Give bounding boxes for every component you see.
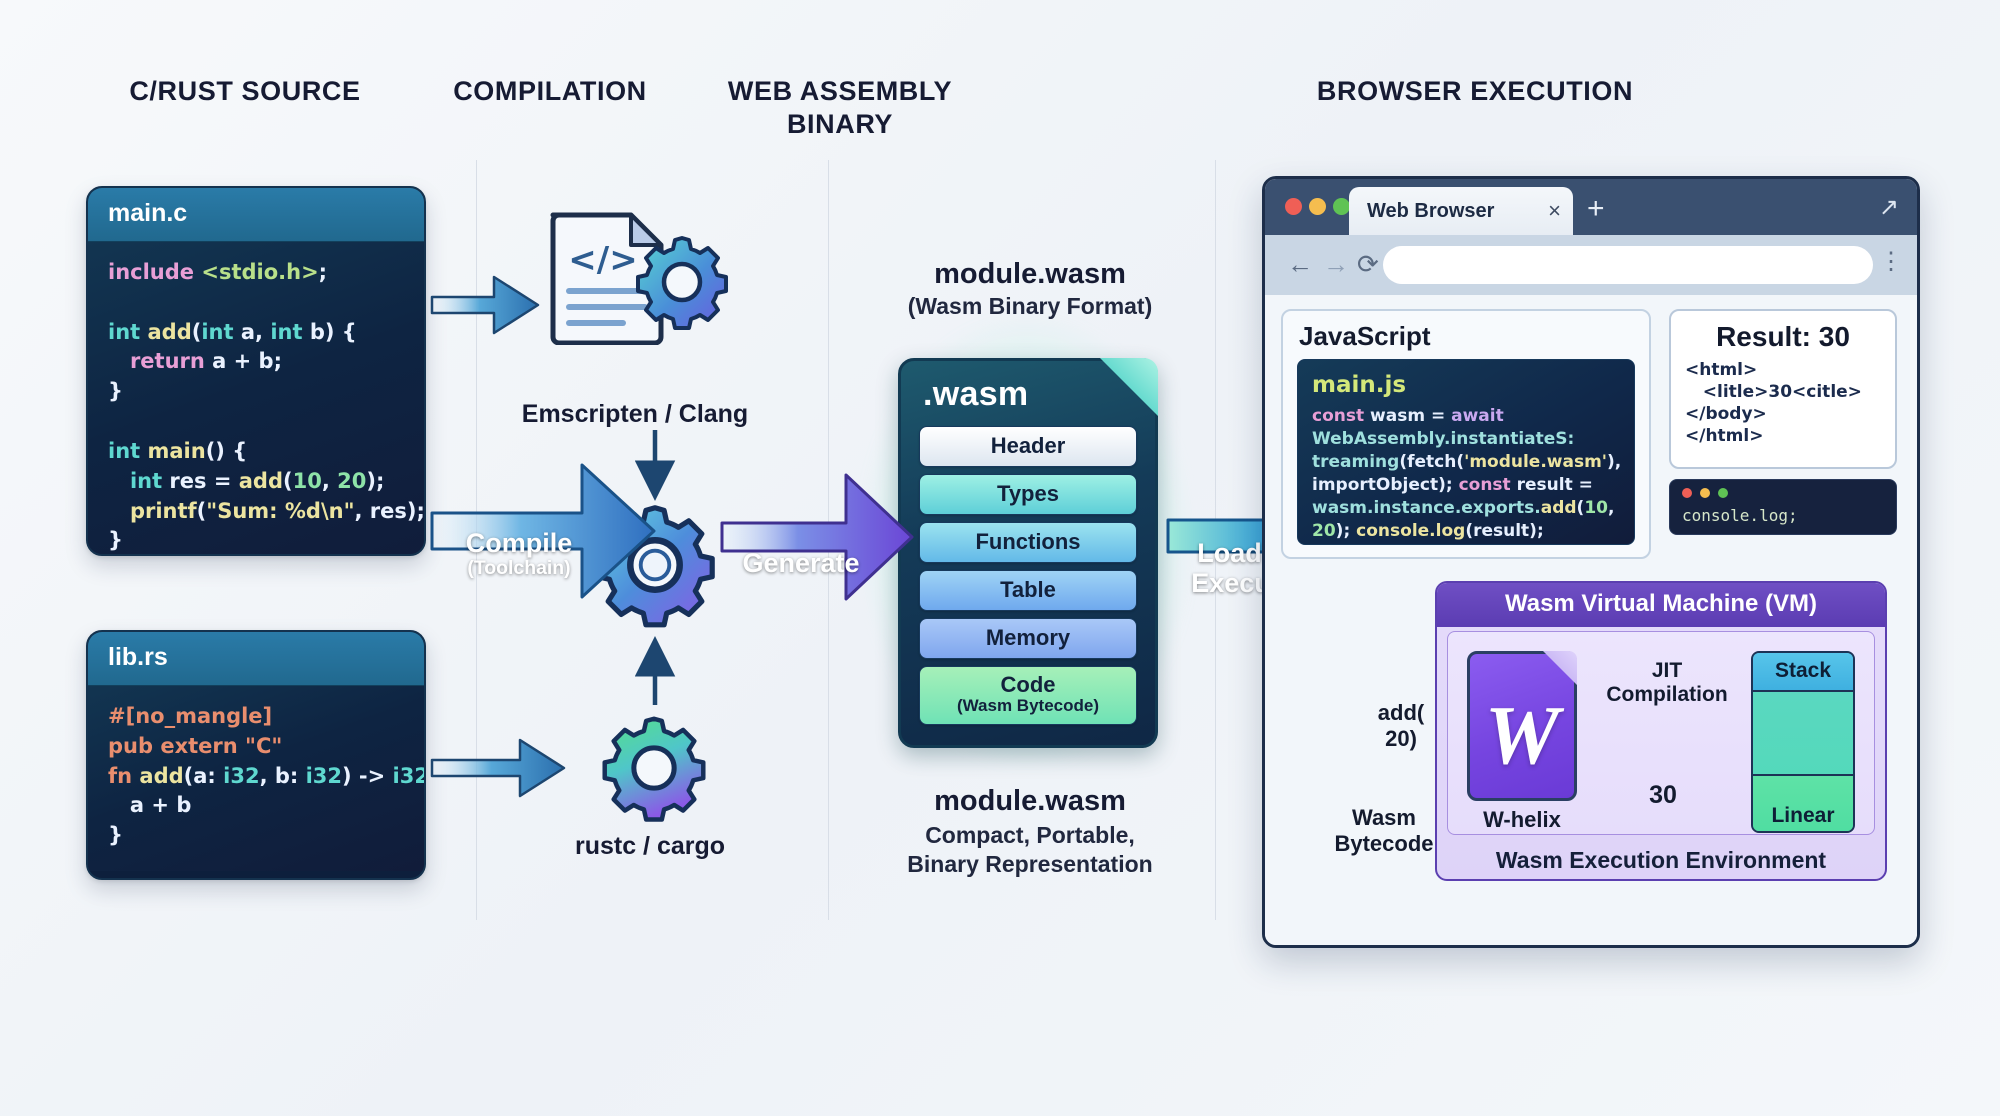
- vm-memory-stack: Stack: [1753, 653, 1853, 692]
- wasm-segment-types: Types: [919, 474, 1137, 515]
- column-title-compilation: COMPILATION: [405, 75, 695, 108]
- wasm-execution-environment-label: Wasm Execution Environment: [1437, 847, 1885, 874]
- console-output-text: console.log;: [1682, 506, 1798, 525]
- wasm-caption-top-title: module.wasm: [860, 258, 1200, 291]
- whelix-label: W-helix: [1459, 807, 1585, 833]
- wasm-segment-header: Header: [919, 426, 1137, 467]
- reload-button[interactable]: ⟳: [1357, 249, 1379, 280]
- main-js-code: main.js const wasm = await WebAssembly.i…: [1297, 359, 1635, 545]
- label-emscripten: Emscripten / Clang: [470, 400, 800, 429]
- result-html-code: <html> <litle>30<citle> </body> </html>: [1685, 359, 1881, 447]
- wasm-caption-bottom-subtitle: Compact, Portable, Binary Representation: [860, 821, 1200, 879]
- javascript-panel: JavaScript main.js const wasm = await We…: [1281, 309, 1651, 559]
- back-button[interactable]: ←: [1287, 249, 1313, 280]
- edge-label-wasm-bytecode: Wasm Bytecode: [1319, 805, 1449, 856]
- wasm-segment-code-sub: (Wasm Bytecode): [920, 696, 1136, 716]
- traffic-light-minimize-icon[interactable]: [1309, 198, 1326, 215]
- browser-menu-button[interactable]: ⋮: [1879, 247, 1903, 276]
- gear-icon-toolchain: [590, 500, 720, 630]
- wasm-file-box: .wasm Header Types Functions Table Memor…: [898, 358, 1158, 748]
- traffic-light-close-icon[interactable]: [1285, 198, 1302, 215]
- forward-button[interactable]: →: [1323, 249, 1349, 280]
- javascript-panel-title: JavaScript: [1283, 311, 1649, 352]
- wasm-segment-table: Table: [919, 570, 1137, 611]
- wasm-caption-top-subtitle: (Wasm Binary Format): [860, 293, 1200, 320]
- wasm-caption-bottom-title: module.wasm: [860, 785, 1200, 818]
- new-tab-button[interactable]: +: [1587, 192, 1605, 226]
- code-card-title-lib-rs: lib.rs: [88, 632, 424, 686]
- browser-tab-label: Web Browser: [1367, 200, 1548, 223]
- browser-toolbar: ← → ⟳ ⋮: [1265, 235, 1917, 295]
- browser-window: Web Browser × + ↗ ← → ⟳ ⋮ JavaScript mai…: [1262, 176, 1920, 948]
- code-body-lib-rs: #[no_mangle] pub extern "C" fn add(a: i3…: [88, 686, 424, 871]
- console-dot-green-icon: [1718, 488, 1728, 498]
- column-title-browser: BROWSER EXECUTION: [1240, 75, 1710, 108]
- return-value-label: 30: [1633, 781, 1693, 810]
- diagram-canvas: C/RUST SOURCE COMPILATION WEB ASSEMBLY B…: [0, 0, 2000, 1116]
- code-card-main-c: main.c include <stdio.h>; int add(int a,…: [86, 186, 426, 556]
- traffic-light-maximize-icon[interactable]: [1333, 198, 1350, 215]
- wasm-caption-bottom: module.wasm Compact, Portable, Binary Re…: [860, 785, 1200, 879]
- wasm-caption-top: module.wasm (Wasm Binary Format): [860, 258, 1200, 320]
- wasm-segment-memory: Memory: [919, 618, 1137, 659]
- browser-viewport: JavaScript main.js const wasm = await We…: [1265, 295, 1917, 945]
- expand-icon[interactable]: ↗: [1879, 193, 1899, 222]
- wasm-vm-header: Wasm Virtual Machine (VM): [1437, 583, 1885, 627]
- column-title-wasm: WEB ASSEMBLY BINARY: [690, 75, 990, 141]
- arrow-sublabel-compile: (Toolchain): [444, 558, 594, 580]
- edge-label-add-call: add( 20): [1361, 700, 1441, 751]
- vm-memory-column: Stack Linear Memory: [1751, 651, 1855, 833]
- browser-titlebar: Web Browser × + ↗: [1265, 179, 1917, 235]
- wasm-vm-box: Wasm Virtual Machine (VM) Wasm Execution…: [1435, 581, 1887, 881]
- vm-memory-linear: Linear Memory: [1753, 774, 1853, 833]
- code-body-main-c: include <stdio.h>; int add(int a, int b)…: [88, 242, 424, 556]
- divider-2: [828, 160, 829, 920]
- result-panel: Result: 30 <html> <litle>30<citle> </bod…: [1669, 309, 1897, 469]
- whelix-module-icon: W: [1467, 651, 1577, 801]
- code-card-title-main-c: main.c: [88, 188, 424, 242]
- console-dot-red-icon: [1682, 488, 1692, 498]
- result-title: Result: 30: [1685, 321, 1881, 353]
- column-title-source: C/RUST SOURCE: [90, 75, 400, 108]
- browser-tab[interactable]: Web Browser ×: [1349, 187, 1573, 235]
- code-card-lib-rs: lib.rs #[no_mangle] pub extern "C" fn ad…: [86, 630, 426, 880]
- wasm-segment-code: Code (Wasm Bytecode): [919, 666, 1137, 725]
- gear-icon-emscripten: [632, 232, 732, 332]
- vm-memory-middle: [1753, 692, 1853, 774]
- whelix-glyph: W: [1470, 654, 1574, 798]
- console-dot-yellow-icon: [1700, 488, 1710, 498]
- label-rustc-cargo: rustc / cargo: [500, 832, 800, 861]
- gear-icon-rustc: [598, 712, 710, 824]
- arrow-label-generate: Generate: [736, 548, 866, 578]
- arrow-label-compile: Compile (Toolchain): [444, 528, 594, 580]
- jit-compilation-label: JIT Compilation: [1597, 659, 1737, 707]
- svg-text:</>: </>: [568, 240, 637, 280]
- wasm-segment-functions: Functions: [919, 522, 1137, 563]
- console-box: console.log;: [1669, 479, 1897, 535]
- address-bar[interactable]: [1383, 246, 1873, 284]
- close-icon[interactable]: ×: [1548, 198, 1561, 224]
- main-js-filename: main.js: [1312, 370, 1620, 401]
